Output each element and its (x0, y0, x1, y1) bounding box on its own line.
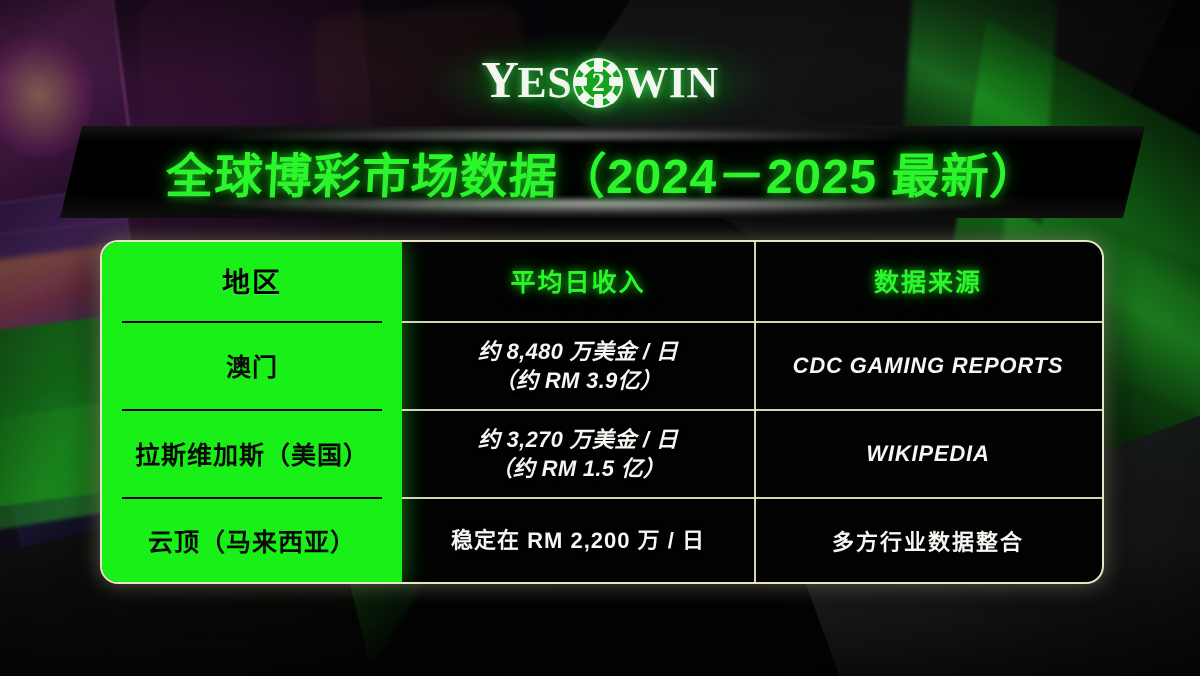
market-data-table: 地区 澳门 拉斯维加斯（美国） 云顶（马来西亚） 平均日收入 (100, 240, 1104, 584)
income-line-1: 约 3,270 万美金 / 日 (478, 427, 678, 452)
poster-canvas: Y ES 2 WIN 全球博彩市场数据（2024－2025 最新） 地区 澳门 (0, 0, 1200, 676)
table-row: 稳定在 RM 2,200 万 / 日 多方行业数据整合 (402, 499, 1102, 582)
poker-chip-icon: 2 (573, 58, 623, 108)
income-line-1: 稳定在 RM 2,200 万 / 日 (451, 526, 705, 555)
table-cell-source: 多方行业数据整合 (754, 499, 1102, 582)
table-header-source: 数据来源 (754, 242, 1102, 321)
table-cell-income: 约 8,480 万美金 / 日 （约 RM 3.9亿） (402, 323, 754, 409)
chip-number: 2 (592, 70, 605, 96)
table-cell-income: 稳定在 RM 2,200 万 / 日 (402, 499, 754, 582)
table-cell-region: 拉斯维加斯（美国） (102, 411, 402, 497)
table-header-income: 平均日收入 (402, 242, 754, 321)
table-header-row: 平均日收入 数据来源 (402, 242, 1102, 321)
table-row: 约 3,270 万美金 / 日 （约 RM 1.5 亿） WIKIPEDIA (402, 411, 1102, 497)
income-line-2: （约 RM 3.9亿） (494, 368, 662, 393)
page-title: 全球博彩市场数据（2024－2025 最新） (164, 137, 1041, 207)
table-cell-source: WIKIPEDIA (754, 411, 1102, 497)
table-row: 约 8,480 万美金 / 日 （约 RM 3.9亿） CDC GAMING R… (402, 323, 1102, 409)
table-column-region: 地区 澳门 拉斯维加斯（美国） 云顶（马来西亚） (102, 242, 402, 582)
logo-text-win: WIN (624, 61, 718, 105)
brand-logo: Y ES 2 WIN (0, 52, 1200, 114)
table-cell-region: 澳门 (102, 323, 402, 409)
income-line-1: 约 8,480 万美金 / 日 (478, 339, 678, 364)
table-cell-source: CDC GAMING REPORTS (754, 323, 1102, 409)
logo-text-es: ES (517, 61, 572, 105)
table-cell-region: 云顶（马来西亚） (102, 499, 402, 582)
table-header-region: 地区 (102, 242, 402, 321)
income-line-2: （约 RM 1.5 亿） (491, 456, 666, 481)
table-cell-income: 约 3,270 万美金 / 日 （约 RM 1.5 亿） (402, 411, 754, 497)
table-columns-data: 平均日收入 数据来源 约 8,480 万美金 / 日 （约 RM 3.9亿） C… (402, 242, 1102, 582)
title-banner: 全球博彩市场数据（2024－2025 最新） (60, 126, 1145, 218)
logo-letter-y: Y (481, 55, 519, 107)
